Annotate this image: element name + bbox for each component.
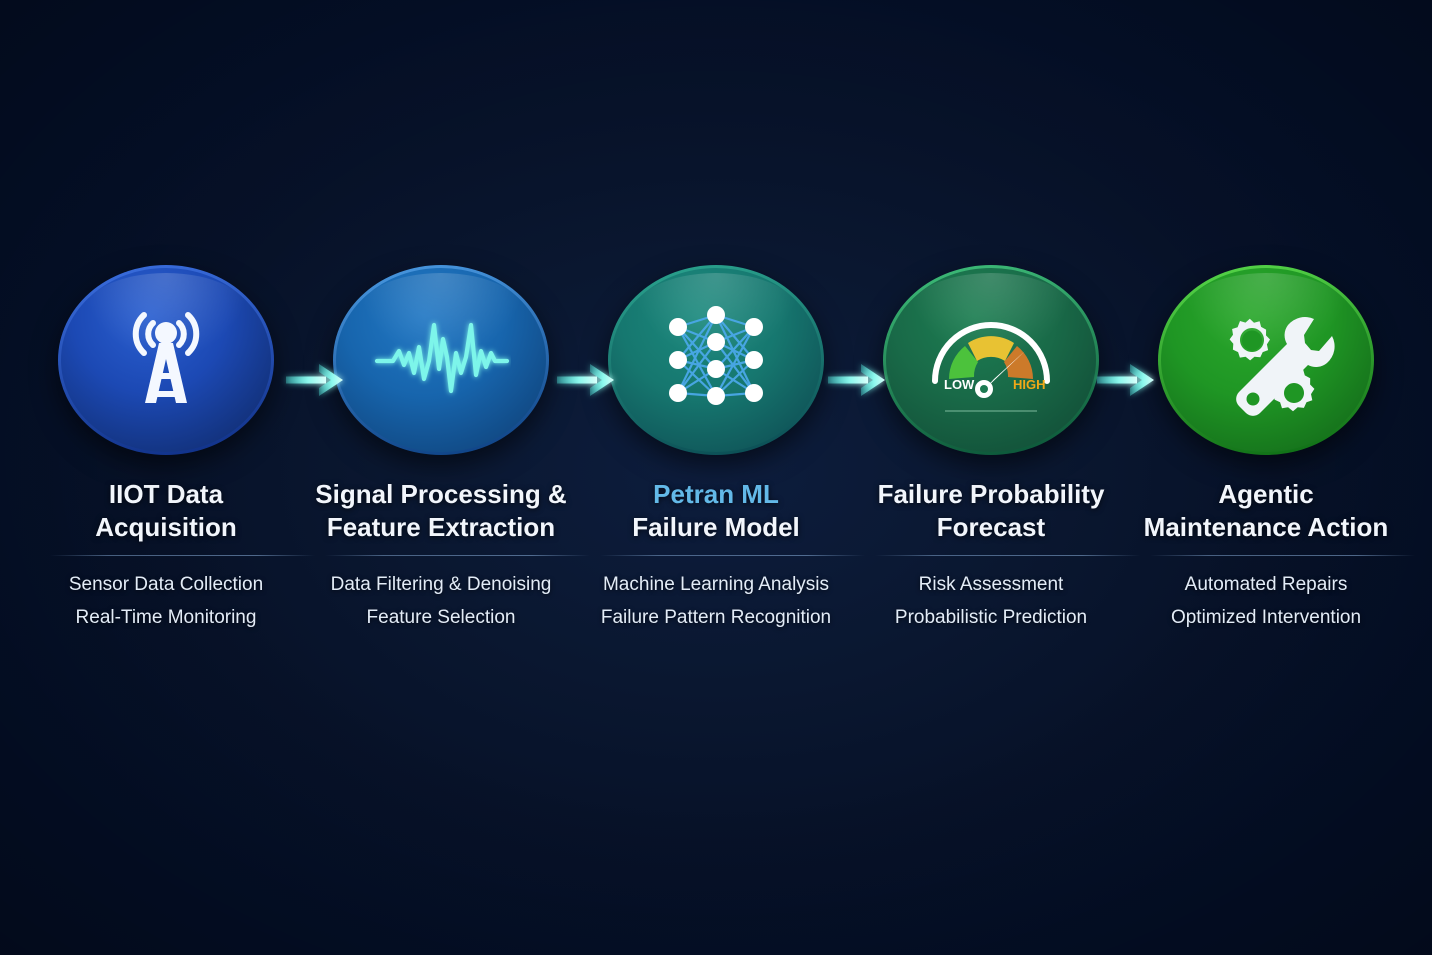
stage-5-title-line-2: Maintenance Action [1134, 511, 1399, 544]
stage-5-subtitle-line-1: Automated Repairs [1131, 568, 1401, 601]
stage-2-title-line-1: Signal Processing & [309, 478, 574, 511]
stage-3-divider [600, 555, 865, 556]
antenna-signal-tower-icon [96, 295, 236, 425]
stage-5-titles: Agentic Maintenance Action [1134, 478, 1399, 544]
stage-5-title-line-1: Agentic [1134, 478, 1399, 511]
arrow-stage3-to-stage4 [828, 358, 890, 402]
stage-1-circle [57, 262, 275, 458]
stage-1-title-line-2: Acquisition [34, 511, 299, 544]
stage-4-titles: Failure Probability Forecast [859, 478, 1124, 544]
stage-1-titles: IIOT Data Acquisition [34, 478, 299, 544]
stage-3-subtitle-line-2: Failure Pattern Recognition [581, 601, 851, 634]
gauge-low-label: LOW [944, 377, 975, 392]
stage-3-subtitles: Machine Learning Analysis Failure Patter… [581, 568, 851, 634]
stage-1-title-line-1: IIOT Data [34, 478, 299, 511]
neural-network-icon [646, 295, 786, 425]
arrow-stage2-to-stage3 [557, 358, 619, 402]
wrench-gear-maintenance-icon [1196, 295, 1336, 425]
stage-4-title-line-2: Forecast [859, 511, 1124, 544]
stage-5-subtitle-line-2: Optimized Intervention [1131, 601, 1401, 634]
stage-2-subtitle-line-2: Feature Selection [306, 601, 576, 634]
signal-waveform-icon [371, 295, 511, 425]
stage-4-divider [875, 555, 1140, 556]
pipeline-stage-agentic-maintenance-action[interactable]: Agentic Maintenance Action Automated Rep… [1150, 262, 1382, 634]
pipeline-stage-petran-ml-failure-model[interactable]: Petran ML Failure Model Machine Learning… [600, 262, 832, 634]
pipeline-stages: IIOT Data Acquisition Sensor Data Collec… [50, 262, 1382, 682]
diagram-canvas: IIOT Data Acquisition Sensor Data Collec… [0, 0, 1432, 955]
stage-4-circle: LOW HIGH [882, 262, 1100, 458]
stage-3-title-line-2: Failure Model [584, 511, 849, 544]
pipeline-stage-signal-processing[interactable]: Signal Processing & Feature Extraction D… [325, 262, 557, 634]
stage-1-subtitles: Sensor Data Collection Real-Time Monitor… [31, 568, 301, 634]
stage-4-subtitles: Risk Assessment Probabilistic Prediction [856, 568, 1126, 634]
risk-gauge-icon: LOW HIGH [921, 295, 1061, 425]
pipeline-stage-iiot-data-acquisition[interactable]: IIOT Data Acquisition Sensor Data Collec… [50, 262, 282, 634]
stage-4-subtitle-line-1: Risk Assessment [856, 568, 1126, 601]
stage-3-subtitle-line-1: Machine Learning Analysis [581, 568, 851, 601]
stage-3-title-line-1: Petran ML [584, 478, 849, 511]
gauge-high-label: HIGH [1013, 377, 1046, 392]
stage-1-subtitle-line-1: Sensor Data Collection [31, 568, 301, 601]
stage-3-circle [607, 262, 825, 458]
stage-5-divider [1150, 555, 1415, 556]
stage-2-subtitle-line-1: Data Filtering & Denoising [306, 568, 576, 601]
stage-2-title-line-2: Feature Extraction [309, 511, 574, 544]
stage-2-titles: Signal Processing & Feature Extraction [309, 478, 574, 544]
stage-1-divider [50, 555, 315, 556]
stage-5-circle [1157, 262, 1375, 458]
stage-4-subtitle-line-2: Probabilistic Prediction [856, 601, 1126, 634]
pipeline-stage-failure-probability-forecast[interactable]: LOW HIGH Failure Probability Forecast Ri… [875, 262, 1107, 634]
arrow-stage1-to-stage2 [286, 358, 348, 402]
stage-3-titles: Petran ML Failure Model [584, 478, 849, 544]
stage-2-circle [332, 262, 550, 458]
stage-2-divider [325, 555, 590, 556]
stage-5-subtitles: Automated Repairs Optimized Intervention [1131, 568, 1401, 634]
arrow-stage4-to-stage5 [1097, 358, 1159, 402]
stage-2-subtitles: Data Filtering & Denoising Feature Selec… [306, 568, 576, 634]
stage-4-title-line-1: Failure Probability [859, 478, 1124, 511]
stage-1-subtitle-line-2: Real-Time Monitoring [31, 601, 301, 634]
